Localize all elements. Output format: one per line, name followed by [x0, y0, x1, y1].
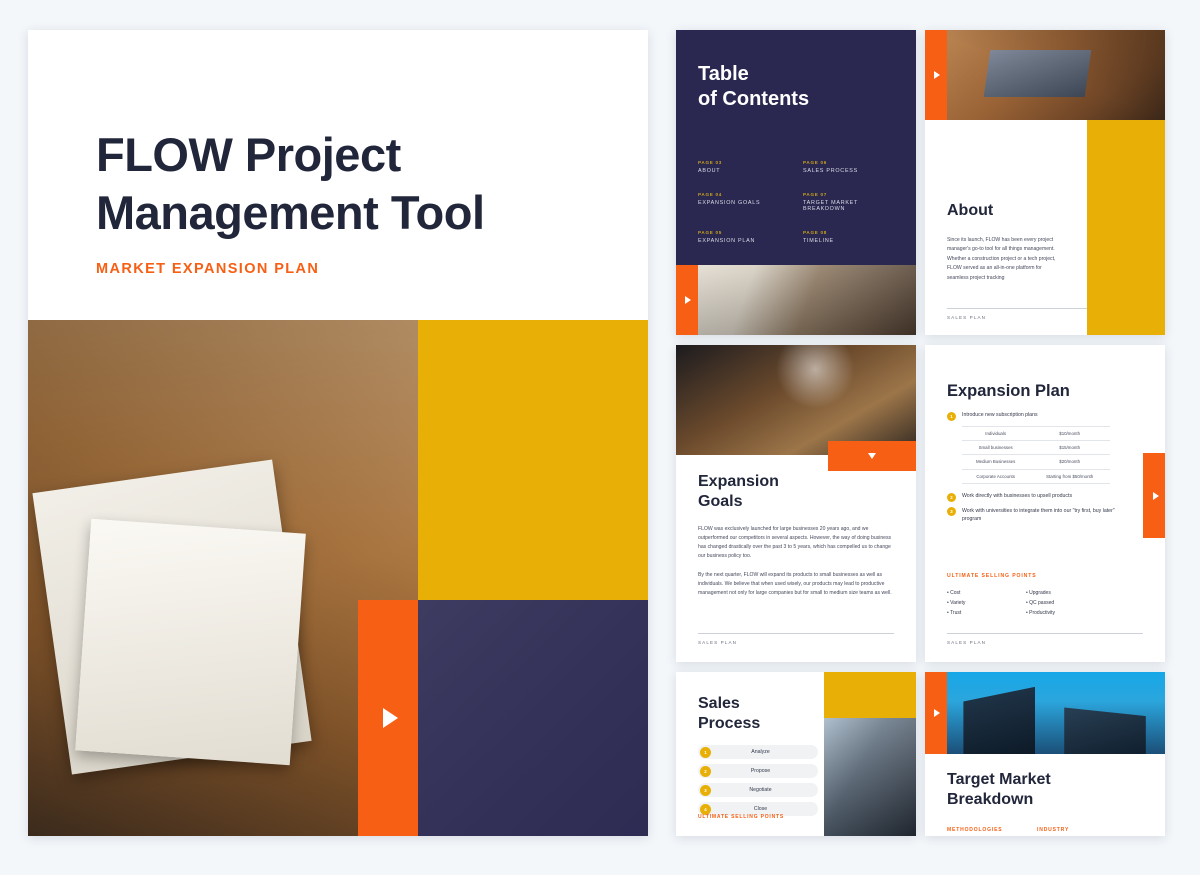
sales-step-pill[interactable]: 3 Negotiate	[698, 783, 818, 797]
slide-expansion-plan[interactable]: Expansion Plan 1 Introduce new subscript…	[925, 345, 1165, 662]
pricing-price: $15/month	[1029, 440, 1110, 454]
sales-step-pill[interactable]: 2 Propose	[698, 764, 818, 778]
play-triangle-icon	[1153, 492, 1159, 500]
sales-title: Sales Process	[698, 694, 760, 735]
goals-title: Expansion Goals	[698, 472, 779, 513]
target-title-line-2: Breakdown	[947, 790, 1051, 810]
photo-laptop-on-couch	[925, 30, 1165, 120]
goals-paragraph-2: By the next quarter, FLOW will expand it…	[698, 571, 894, 598]
photo-two-people-laptop	[676, 265, 916, 335]
slide-expansion-goals[interactable]: Expansion Goals FLOW was exclusively lau…	[676, 345, 916, 662]
goals-footer-label: SALES PLAN	[698, 640, 737, 645]
toc-entry-page: PAGE 03	[698, 160, 793, 165]
plan-footer-label: SALES PLAN	[947, 640, 986, 645]
hero-play-button[interactable]	[358, 600, 418, 836]
plan-step: 1 Introduce new subscription plans	[947, 411, 1127, 421]
plan-step: 2 Work directly with businesses to upsel…	[947, 492, 1127, 502]
pricing-price: $20/month	[1029, 455, 1110, 469]
about-play-button[interactable]	[925, 30, 947, 120]
toc-entry-label: SALES PROCESS	[803, 168, 898, 174]
goals-body-text: FLOW was exclusively launched for large …	[698, 525, 894, 598]
usp-list: • Cost • Upgrades • Variety • QC passed …	[947, 590, 1097, 616]
slide-sales-process[interactable]: Sales Process 1 Analyze 2 Propose 3 Nego…	[676, 672, 916, 836]
target-heading-methodologies: METHODOLOGIES	[947, 827, 1037, 833]
target-title: Target Market Breakdown	[947, 770, 1051, 811]
hero-yellow-block	[418, 320, 648, 600]
step-number-badge: 4	[700, 804, 711, 815]
table-row: Individuals $10/month	[962, 426, 1110, 440]
pricing-table: Individuals $10/month Small businesses $…	[962, 426, 1110, 485]
play-triangle-icon	[934, 71, 940, 79]
plan-step-list: 1 Introduce new subscription plans Indiv…	[947, 411, 1127, 528]
usp-heading: ULTIMATE SELLING POINTS	[947, 573, 1037, 579]
slide-about[interactable]: About Since its launch, FLOW has been ev…	[925, 30, 1165, 335]
goals-expand-button[interactable]	[828, 441, 916, 471]
goals-title-line-2: Goals	[698, 492, 779, 512]
hero-title-line-2: Management Tool	[96, 184, 616, 242]
target-title-line-1: Target Market	[947, 770, 1051, 790]
usp-item: • Cost	[947, 590, 1018, 596]
target-play-button[interactable]	[925, 672, 947, 754]
chevron-down-icon	[868, 453, 876, 459]
step-number-badge: 1	[947, 412, 956, 421]
step-number-badge: 2	[947, 493, 956, 502]
pricing-tier: Medium Businesses	[962, 455, 1029, 469]
slide-deck-board: FLOW Project Management Tool MARKET EXPA…	[0, 0, 1200, 875]
toc-entry[interactable]: PAGE 08 TIMELINE	[803, 230, 898, 244]
slide-table-of-contents[interactable]: Table of Contents PAGE 03 ABOUT PAGE 06 …	[676, 30, 916, 335]
step-label: Negotiate	[711, 787, 818, 793]
toc-entry-label: EXPANSION PLAN	[698, 238, 793, 244]
toc-entry-grid: PAGE 03 ABOUT PAGE 06 SALES PROCESS PAGE…	[698, 160, 898, 244]
toc-entry[interactable]: PAGE 04 EXPANSION GOALS	[698, 192, 793, 212]
step-label: Analyze	[711, 749, 818, 755]
sales-note: ULTIMATE SELLING POINTS	[698, 814, 784, 820]
step-label: Work with universities to integrate them…	[962, 507, 1127, 524]
table-row: Small businesses $15/month	[962, 440, 1110, 454]
toc-entry[interactable]: PAGE 07 TARGET MARKET BREAKDOWN	[803, 192, 898, 212]
usp-item: • Productivity	[1026, 610, 1097, 616]
table-row: Corporate Accounts Starting from $50/mon…	[962, 469, 1110, 483]
hero-image-grid	[28, 320, 648, 836]
step-number-badge: 1	[700, 747, 711, 758]
sales-step-list: 1 Analyze 2 Propose 3 Negotiate 4 Close	[698, 745, 818, 821]
photo-desk-coffee-laptop	[676, 345, 916, 455]
step-number-badge: 3	[700, 785, 711, 796]
toc-entry[interactable]: PAGE 06 SALES PROCESS	[803, 160, 898, 174]
toc-entry-page: PAGE 07	[803, 192, 898, 197]
target-heading-industry: INDUSTRY	[1037, 827, 1127, 833]
about-yellow-block	[1087, 120, 1165, 335]
toc-entry-page: PAGE 05	[698, 230, 793, 235]
slide-title[interactable]: FLOW Project Management Tool MARKET EXPA…	[28, 30, 648, 836]
plan-footer-divider	[947, 633, 1143, 634]
slide-target-market[interactable]: Target Market Breakdown METHODOLOGIES IN…	[925, 672, 1165, 836]
about-footer-label: SALES PLAN	[947, 315, 986, 320]
sales-step-pill[interactable]: 1 Analyze	[698, 745, 818, 759]
usp-item: • QC passed	[1026, 600, 1097, 606]
photo-navy-overlay	[418, 600, 648, 836]
plan-title: Expansion Plan	[947, 382, 1070, 401]
target-column-headings: METHODOLOGIES INDUSTRY	[947, 827, 1127, 833]
play-triangle-icon	[383, 708, 398, 728]
usp-item: • Variety	[947, 600, 1018, 606]
pricing-tier: Corporate Accounts	[962, 469, 1029, 483]
play-triangle-icon	[934, 709, 940, 717]
plan-step: 3 Work with universities to integrate th…	[947, 507, 1127, 524]
usp-item: • Upgrades	[1026, 590, 1097, 596]
photo-skyscrapers	[925, 672, 1165, 754]
sales-title-line-1: Sales	[698, 694, 760, 714]
about-body-text: Since its launch, FLOW has been every pr…	[947, 236, 1057, 283]
hero-title-line-1: FLOW Project	[96, 126, 616, 184]
about-footer-divider	[947, 308, 1087, 309]
toc-entry-label: ABOUT	[698, 168, 793, 174]
about-title: About	[947, 202, 993, 220]
goals-title-line-1: Expansion	[698, 472, 779, 492]
plan-next-button[interactable]	[1143, 453, 1165, 538]
step-number-badge: 2	[700, 766, 711, 777]
pricing-tier: Individuals	[962, 426, 1029, 440]
toc-entry-label: TARGET MARKET BREAKDOWN	[803, 200, 898, 212]
toc-title-line-1: Table	[698, 62, 809, 87]
pricing-price: $10/month	[1029, 426, 1110, 440]
step-label: Introduce new subscription plans	[962, 411, 1038, 419]
hero-subtitle: MARKET EXPANSION PLAN	[96, 261, 319, 277]
goals-paragraph-1: FLOW was exclusively launched for large …	[698, 525, 894, 562]
sales-title-line-2: Process	[698, 714, 760, 734]
step-number-badge: 3	[947, 507, 956, 516]
toc-entry-label: TIMELINE	[803, 238, 898, 244]
goals-footer-divider	[698, 633, 894, 634]
page-title: FLOW Project Management Tool	[96, 126, 616, 243]
pricing-price: Starting from $50/month	[1029, 469, 1110, 483]
toc-entry-page: PAGE 08	[803, 230, 898, 235]
sales-yellow-block	[824, 672, 916, 718]
photo-two-colleagues	[824, 718, 916, 836]
step-label: Propose	[711, 768, 818, 774]
step-label: Close	[711, 806, 818, 812]
toc-entry[interactable]: PAGE 03 ABOUT	[698, 160, 793, 174]
toc-title-line-2: of Contents	[698, 87, 809, 112]
toc-title: Table of Contents	[698, 62, 809, 112]
play-triangle-icon	[685, 296, 691, 304]
step-label: Work directly with businesses to upsell …	[962, 492, 1072, 500]
toc-play-button[interactable]	[676, 265, 698, 335]
usp-item: • Trust	[947, 610, 1018, 616]
table-row: Medium Businesses $20/month	[962, 455, 1110, 469]
toc-entry-page: PAGE 06	[803, 160, 898, 165]
toc-entry[interactable]: PAGE 05 EXPANSION PLAN	[698, 230, 793, 244]
toc-entry-page: PAGE 04	[698, 192, 793, 197]
toc-entry-label: EXPANSION GOALS	[698, 200, 793, 206]
pricing-tier: Small businesses	[962, 440, 1029, 454]
hero-text-panel: FLOW Project Management Tool MARKET EXPA…	[28, 30, 648, 320]
